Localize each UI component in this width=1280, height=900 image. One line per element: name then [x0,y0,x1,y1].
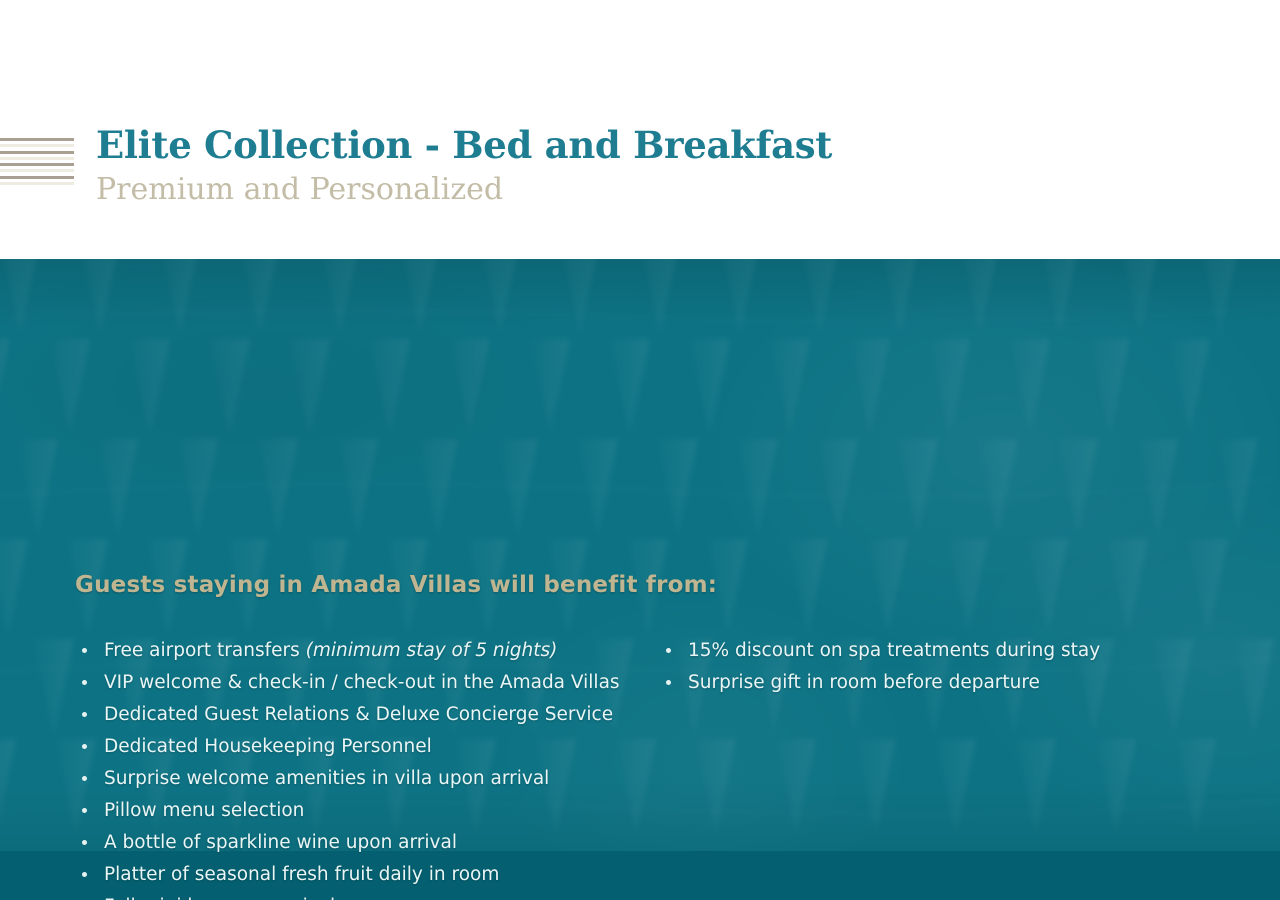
logo-stripe [0,163,74,166]
header-text-block: Elite Collection - Bed and Breakfast Pre… [96,126,832,208]
list-item: A bottle of sparkline wine upon arrival [78,830,638,855]
logo-stripe [0,169,74,172]
list-item-text: Platter of seasonal fresh fruit daily in… [104,864,499,885]
list-item-text: Dedicated Housekeeping Personnel [104,736,432,757]
striped-bar-logo-icon [0,138,74,188]
list-item: 15% discount on spa treatments during st… [662,638,1222,663]
list-item-text: Surprise gift in room before departure [688,672,1040,693]
list-item-text: Dedicated Guest Relations & Deluxe Conci… [104,704,613,725]
logo-stripe [0,157,74,160]
page-subtitle: Premium and Personalized [96,172,832,208]
list-item-text: A bottle of sparkline wine upon arrival [104,832,457,853]
list-item: Full mini bar upon arrival [78,894,638,900]
logo-stripe [0,144,74,147]
list-item-note: (minimum stay of 5 nights) [306,640,558,661]
list-item: Dedicated Housekeeping Personnel [78,734,638,759]
list-item: Pillow menu selection [78,798,638,823]
page-title: Elite Collection - Bed and Breakfast [96,126,832,165]
section-heading: Guests staying in Amada Villas will bene… [75,572,717,598]
list-item-text: 15% discount on spa treatments during st… [688,640,1100,661]
list-item: Surprise gift in room before departure [662,670,1222,695]
list-item: Free airport transfers (minimum stay of … [78,638,638,663]
list-item: Dedicated Guest Relations & Deluxe Conci… [78,702,638,727]
list-item-text: Pillow menu selection [104,800,304,821]
list-item: VIP welcome & check-in / check-out in th… [78,670,638,695]
list-item-text: VIP welcome & check-in / check-out in th… [104,672,620,693]
list-item: Surprise welcome amenities in villa upon… [78,766,638,791]
logo-stripe [0,182,74,185]
benefits-list-left: Free airport transfers (minimum stay of … [78,638,638,900]
slide-canvas: Elite Collection - Bed and Breakfast Pre… [0,0,1280,900]
benefits-list-right: 15% discount on spa treatments during st… [662,638,1222,702]
logo-stripe [0,138,74,141]
list-item: Platter of seasonal fresh fruit daily in… [78,862,638,887]
logo-stripe [0,176,74,179]
list-item-text: Free airport transfers [104,640,306,661]
list-item-text: Full mini bar upon arrival [104,896,335,900]
slide-header: Elite Collection - Bed and Breakfast Pre… [0,0,1280,259]
list-item-text: Surprise welcome amenities in villa upon… [104,768,549,789]
logo-stripe [0,151,74,154]
content-panel: Guests staying in Amada Villas will bene… [0,259,1280,900]
